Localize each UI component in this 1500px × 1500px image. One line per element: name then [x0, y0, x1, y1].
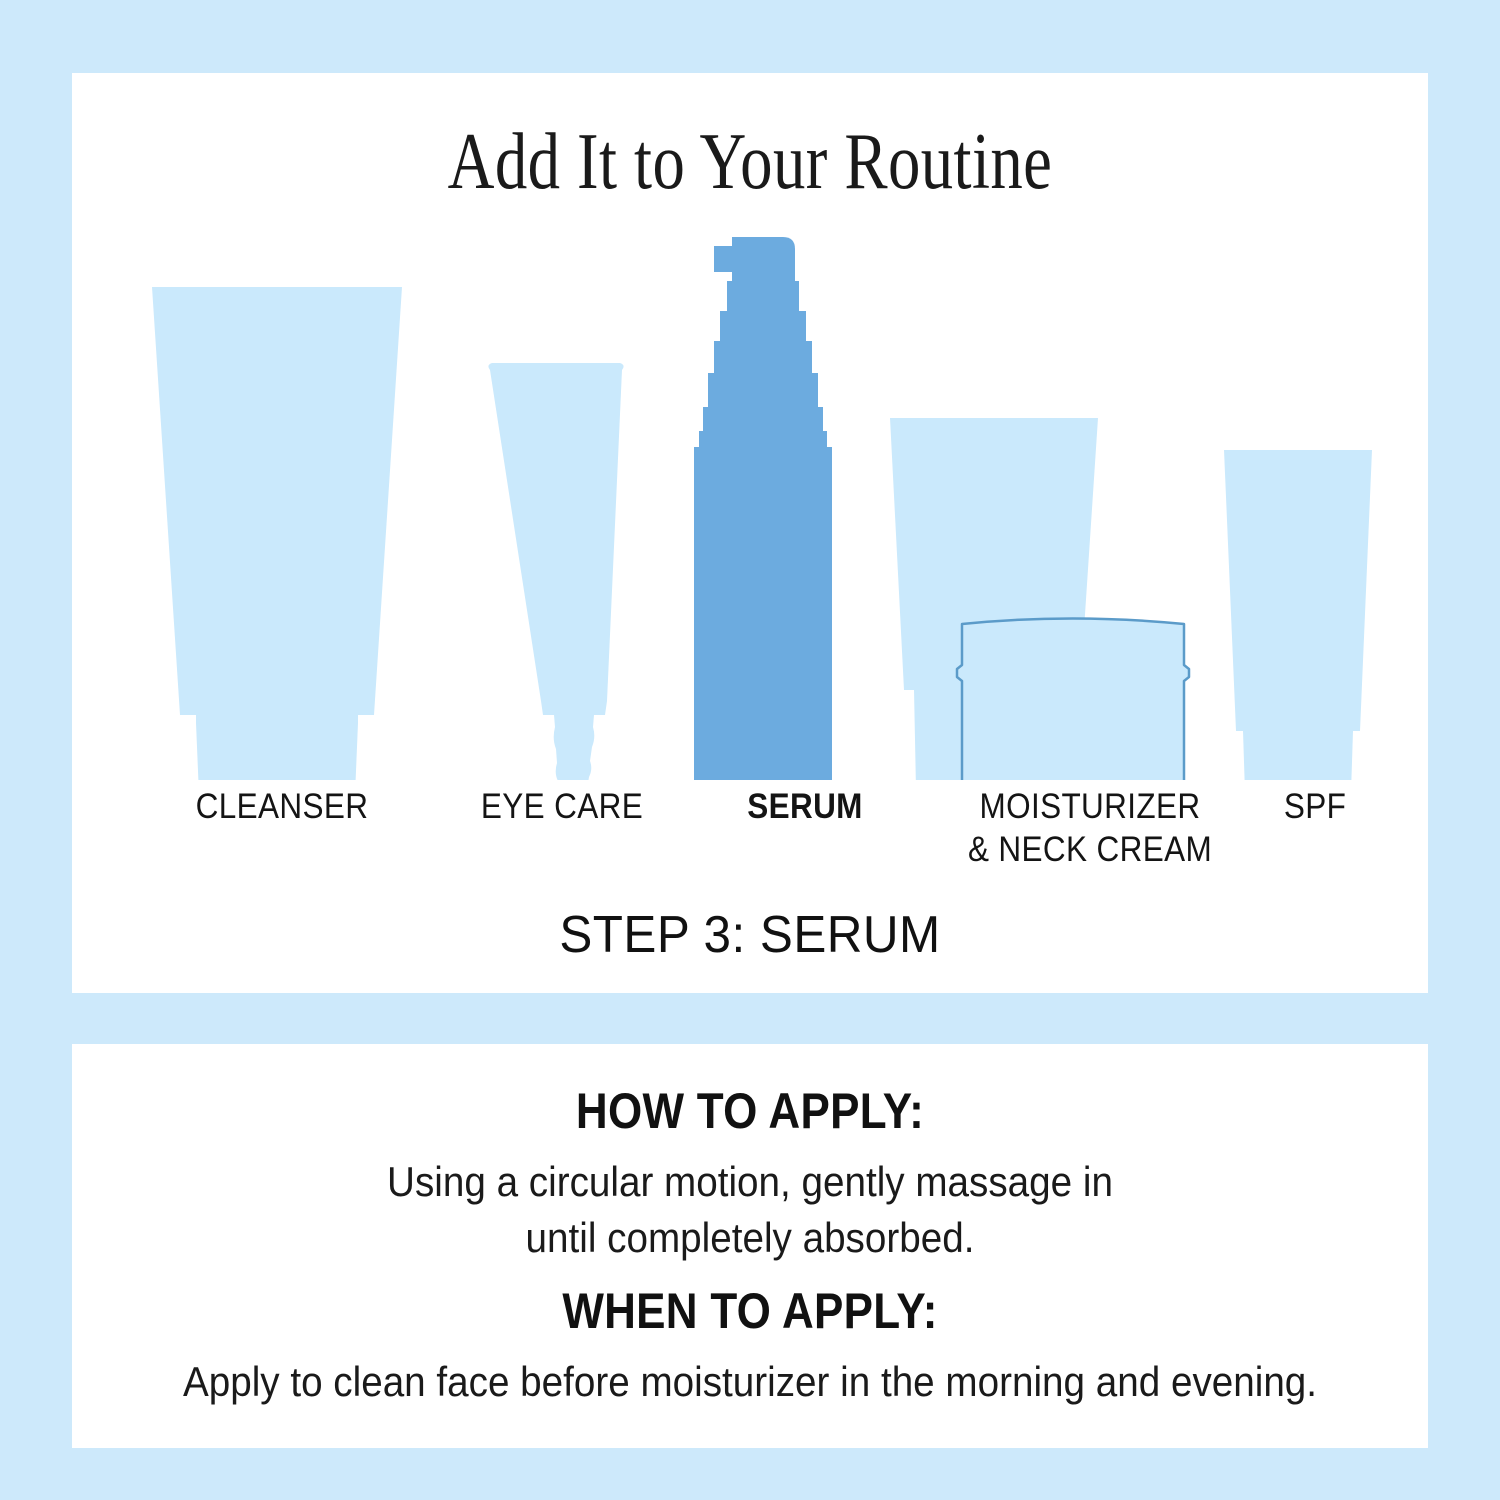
- routine-panel: Add It to Your Routine: [72, 73, 1428, 993]
- product-label-cleanser: CLEANSER: [120, 785, 444, 828]
- product-label-serum: SERUM: [661, 785, 949, 828]
- product-label-moisturizer-line2: & NECK CREAM: [910, 828, 1270, 871]
- how-to-apply-block: HOW TO APPLY: Using a circular motion, g…: [72, 1082, 1428, 1266]
- page-title: Add It to Your Routine: [208, 115, 1293, 208]
- instructions-panel: HOW TO APPLY: Using a circular motion, g…: [72, 1044, 1428, 1448]
- product-labels: CLEANSER EYE CARE SERUM MOISTURIZER & NE…: [72, 785, 1428, 905]
- product-eye-care-icon: [488, 363, 623, 780]
- product-row: [72, 215, 1428, 780]
- product-label-spf: SPF: [1171, 785, 1459, 828]
- product-spf-icon: [1224, 450, 1372, 780]
- how-to-apply-line2: until completely absorbed.: [126, 1210, 1374, 1266]
- how-to-apply-text: Using a circular motion, gently massage …: [126, 1154, 1374, 1266]
- infographic-page: Add It to Your Routine: [0, 0, 1500, 1500]
- when-to-apply-line1: Apply to clean face before moisturizer i…: [126, 1354, 1374, 1410]
- step-heading: STEP 3: SERUM: [106, 905, 1394, 965]
- product-moisturizer-jar-icon: [957, 619, 1189, 781]
- product-cleanser-icon: [152, 287, 402, 780]
- when-to-apply-heading: WHEN TO APPLY:: [153, 1282, 1346, 1340]
- how-to-apply-heading: HOW TO APPLY:: [153, 1082, 1346, 1140]
- when-to-apply-text: Apply to clean face before moisturizer i…: [126, 1354, 1374, 1410]
- when-to-apply-block: WHEN TO APPLY: Apply to clean face befor…: [72, 1282, 1428, 1410]
- how-to-apply-line1: Using a circular motion, gently massage …: [126, 1154, 1374, 1210]
- product-serum-icon: [694, 237, 832, 780]
